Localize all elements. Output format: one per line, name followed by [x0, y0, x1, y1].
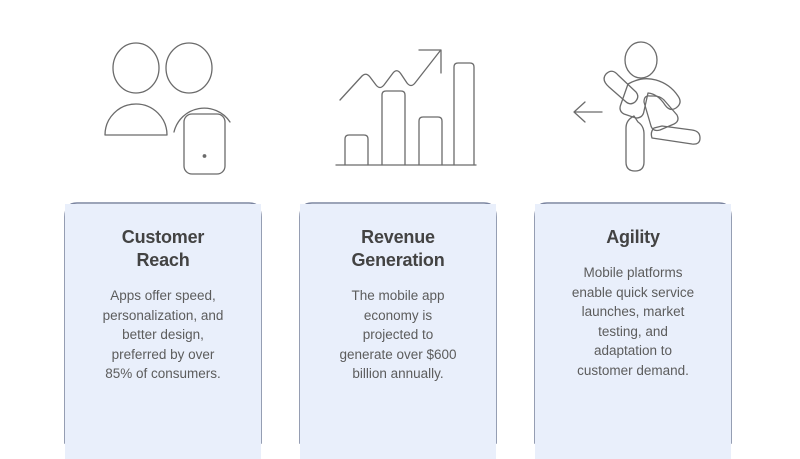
card-description-line: customer demand. [577, 363, 689, 378]
card-body: Agility Mobile platforms enable quick se… [535, 204, 731, 459]
card-description-line: personalization, and [103, 308, 224, 323]
growth-bar-chart-icon [336, 43, 476, 178]
card-description: Mobile platforms enable quick service la… [547, 263, 719, 380]
card-description: Apps offer speed, personalization, and b… [77, 286, 249, 384]
icon-slot-agility [526, 30, 756, 190]
card-agility[interactable]: Agility Mobile platforms enable quick se… [526, 199, 740, 459]
card-description-line: The mobile app [351, 288, 444, 303]
card-title-line: Revenue [361, 227, 435, 247]
card-description-line: launches, market [582, 304, 685, 319]
card-description-line: 85% of consumers. [105, 366, 221, 381]
card-description-line: better design, [122, 327, 204, 342]
card-title: Agility [547, 226, 719, 249]
card-title: Customer Reach [77, 226, 249, 272]
running-person-icon [566, 40, 716, 180]
card-description-line: billion annually. [352, 366, 443, 381]
card-title-line: Agility [606, 227, 660, 247]
card-title-line: Reach [136, 250, 189, 270]
icon-slot-customer-reach [56, 30, 286, 190]
card-description-line: generate over $600 [339, 347, 456, 362]
card-revenue-generation[interactable]: Revenue Generation The mobile app econom… [291, 199, 505, 459]
card-description-line: preferred by over [112, 347, 215, 362]
card-description-line: adaptation to [594, 343, 672, 358]
card-body: Customer Reach Apps offer speed, persona… [65, 204, 261, 459]
card-description-line: economy is [364, 308, 432, 323]
card-title-line: Generation [351, 250, 444, 270]
card-description-line: Apps offer speed, [110, 288, 216, 303]
people-with-phone-icon [96, 40, 246, 180]
card-description-line: enable quick service [572, 285, 694, 300]
card-description-line: Mobile platforms [583, 265, 682, 280]
card-description: The mobile app economy is projected to g… [312, 286, 484, 384]
card-description-line: testing, and [598, 324, 668, 339]
card-title: Revenue Generation [312, 226, 484, 272]
card-body: Revenue Generation The mobile app econom… [300, 204, 496, 459]
card-description-line: projected to [363, 327, 434, 342]
infographic-canvas: Customer Reach Apps offer speed, persona… [0, 0, 800, 450]
icon-slot-revenue-generation [291, 30, 521, 190]
icon-row [0, 0, 800, 195]
card-customer-reach[interactable]: Customer Reach Apps offer speed, persona… [56, 199, 270, 459]
card-title-line: Customer [122, 227, 204, 247]
